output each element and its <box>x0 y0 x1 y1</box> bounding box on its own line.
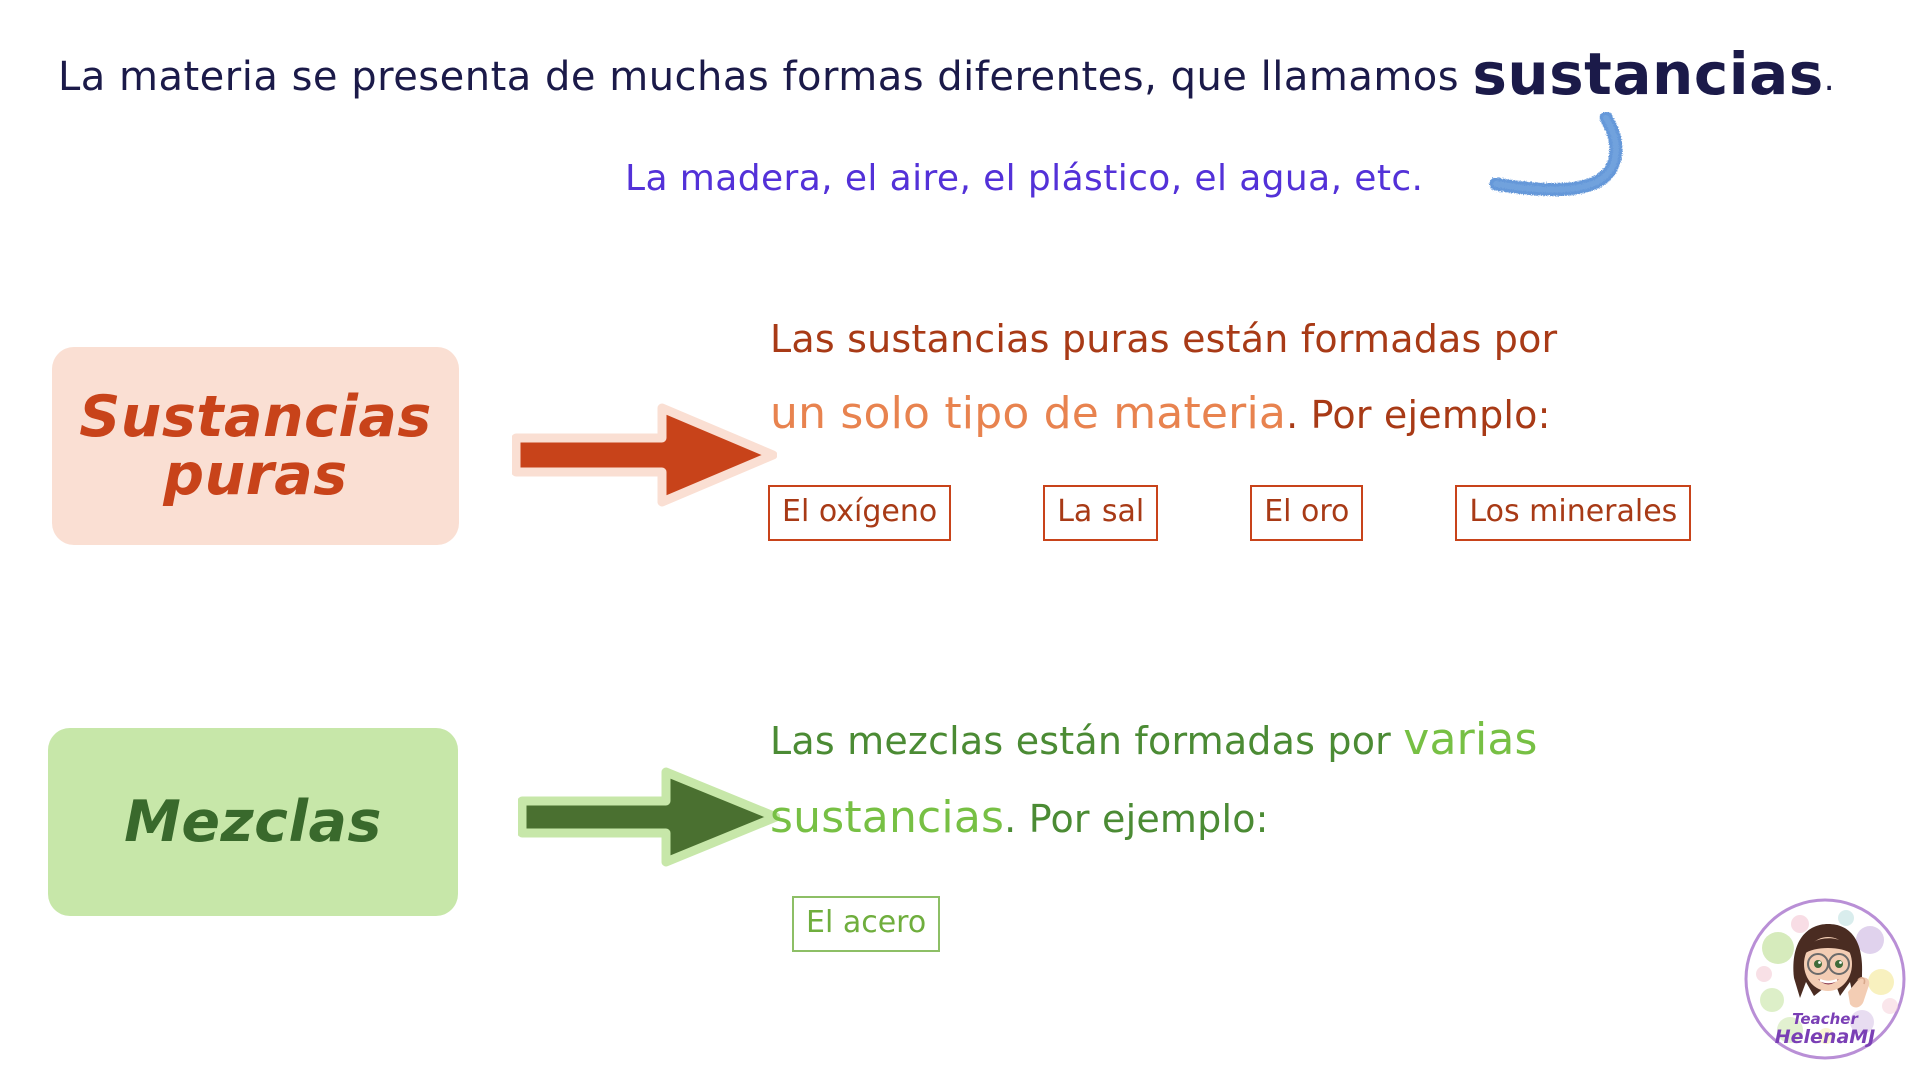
description-sustancias-puras: Las sustancias puras están formadas por … <box>770 320 1790 436</box>
example-chip[interactable]: El acero <box>792 896 940 952</box>
title-period: . <box>1824 59 1835 99</box>
blue-chalk-swoosh-icon <box>1488 112 1638 202</box>
logo-name-line1: Teacher <box>1742 1011 1908 1027</box>
example-chip[interactable]: Los minerales <box>1455 485 1691 541</box>
example-chip-row-sustancias-puras: El oxígeno La sal El oro Los minerales <box>768 485 1691 541</box>
description-text-emphasis: sustancias <box>770 792 1004 843</box>
description-line-1: Las mezclas están formadas por varias <box>770 718 1790 762</box>
logo-name: Teacher HelenaMJ <box>1742 1011 1908 1048</box>
title-intro-text: La materia se presenta de muchas formas … <box>58 54 1472 100</box>
page-title: La materia se presenta de muchas formas … <box>58 40 1868 108</box>
category-label-line1: Mezclas <box>124 793 382 851</box>
description-text-emphasis: varias <box>1403 714 1537 765</box>
description-text-emphasis: un solo tipo de materia <box>770 388 1286 439</box>
example-chip[interactable]: La sal <box>1043 485 1158 541</box>
description-text-tail: . Por ejemplo: <box>1286 393 1551 437</box>
example-chip[interactable]: El oxígeno <box>768 485 951 541</box>
logo-name-line2: HelenaMJ <box>1742 1027 1908 1048</box>
example-chip[interactable]: El oro <box>1250 485 1363 541</box>
right-arrow-icon-mezclas <box>518 765 780 869</box>
description-mezclas: Las mezclas están formadas por varias su… <box>770 718 1790 840</box>
category-box-sustancias-puras[interactable]: Sustancias puras <box>52 347 459 545</box>
description-text-plain: Las sustancias puras están formadas por <box>770 317 1557 361</box>
description-line-1: Las sustancias puras están formadas por <box>770 320 1790 358</box>
category-label-line2: puras <box>163 446 347 504</box>
title-emphasis-word: sustancias <box>1472 40 1823 108</box>
subtitle: La madera, el aire, el plástico, el agua… <box>625 158 1423 199</box>
description-line-2: un solo tipo de materia. Por ejemplo: <box>770 392 1790 436</box>
subtitle-text: La madera, el aire, el plástico, el agua… <box>625 158 1423 199</box>
description-text-plain: Las mezclas están formadas por <box>770 719 1403 763</box>
category-label-line1: Sustancias <box>79 388 432 446</box>
description-text-tail: . Por ejemplo: <box>1004 797 1269 841</box>
watermark-logo[interactable]: Teacher HelenaMJ <box>1742 896 1908 1062</box>
right-arrow-icon-sustancias-puras <box>512 400 777 510</box>
category-box-mezclas[interactable]: Mezclas <box>48 728 458 916</box>
example-chip-row-mezclas: El acero <box>792 896 940 952</box>
description-line-2: sustancias. Por ejemplo: <box>770 796 1790 840</box>
